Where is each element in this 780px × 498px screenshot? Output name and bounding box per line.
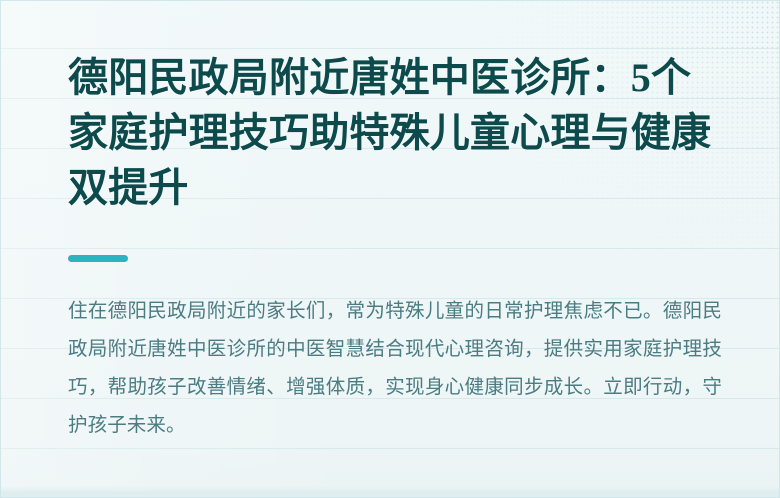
card-content: 德阳民政局附近唐姓中医诊所：5个家庭护理技巧助特殊儿童心理与健康双提升 住在德阳…: [68, 0, 724, 498]
page-title: 德阳民政局附近唐姓中医诊所：5个家庭护理技巧助特殊儿童心理与健康双提升: [68, 50, 720, 215]
article-card: 德阳民政局附近唐姓中医诊所：5个家庭护理技巧助特殊儿童心理与健康双提升 住在德阳…: [0, 0, 780, 498]
accent-divider: [68, 255, 128, 262]
body-paragraph: 住在德阳民政局附近的家长们，常为特殊儿童的日常护理焦虑不已。德阳民政局附近唐姓中…: [68, 292, 722, 444]
